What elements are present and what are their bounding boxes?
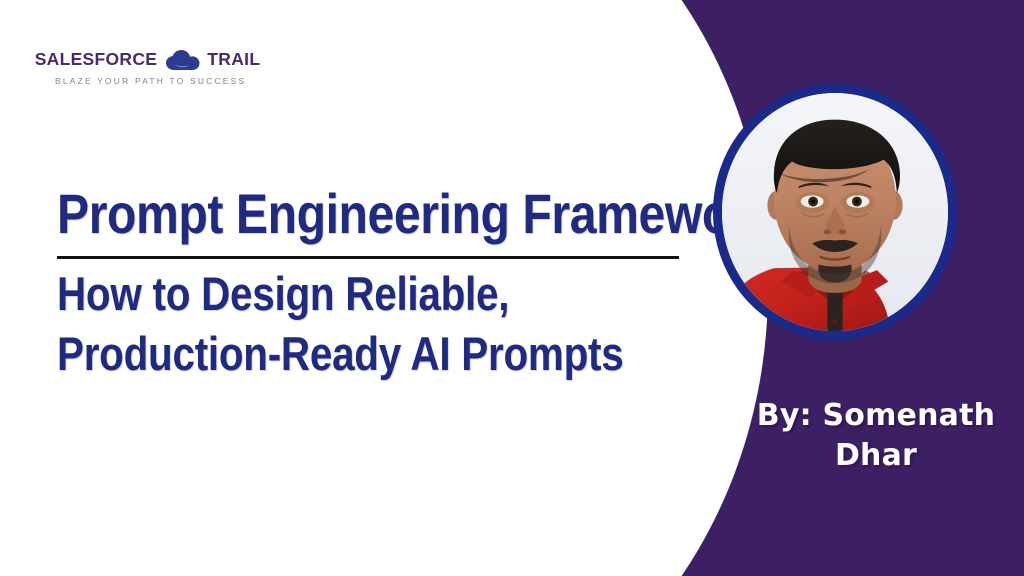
page-title: Prompt Engineering Framework — [57, 186, 607, 242]
portrait-illustration — [722, 93, 948, 331]
logo-tagline: BLAZE YOUR PATH TO SUCCESS — [55, 77, 240, 85]
title-slide: SALESFORCE TRAIL BLAZE YOUR PATH TO SUCC… — [0, 0, 1024, 576]
author-byline: By: Somenath Dhar — [742, 396, 1010, 475]
title-divider — [57, 256, 679, 259]
subtitle-line-2: Production-Ready AI Prompts — [57, 330, 607, 377]
cloud-icon — [164, 50, 200, 71]
logo-wordmark: SALESFORCE TRAIL — [55, 48, 240, 72]
logo-word-right: TRAIL — [207, 51, 260, 69]
headline-block: Prompt Engineering Framework How to Desi… — [57, 186, 697, 377]
brand-logo[interactable]: SALESFORCE TRAIL BLAZE YOUR PATH TO SUCC… — [55, 48, 240, 85]
logo-word-left: SALESFORCE — [35, 51, 158, 69]
subtitle-line-1: How to Design Reliable, — [57, 270, 607, 317]
author-photo — [713, 84, 957, 340]
